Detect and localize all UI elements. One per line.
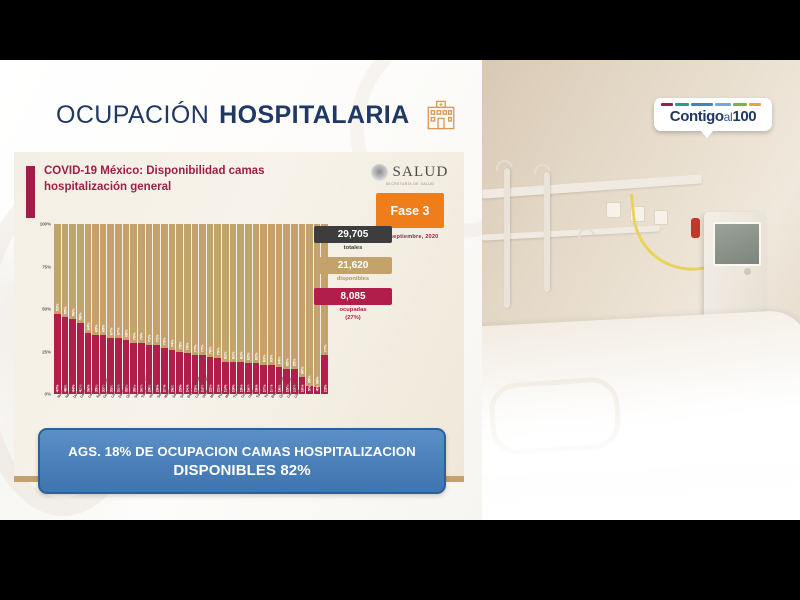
table-row[interactable]: 65%35% <box>100 224 107 394</box>
table-row[interactable]: 81%19% <box>222 224 229 394</box>
bar-value-label: 58% <box>78 312 83 319</box>
y-tick-label: 50% <box>42 307 51 312</box>
bar-value-label: 74% <box>169 340 174 347</box>
bar-segment-ocupacion: 42% <box>77 323 84 394</box>
logo-dash <box>715 103 731 106</box>
bar-segment-disponibilidad: 71% <box>153 224 160 345</box>
bar-value-label: 56% <box>70 309 75 316</box>
table-row[interactable]: 95%5% <box>306 224 313 394</box>
bar-value-label: 95% <box>307 375 312 382</box>
y-tick-label: 100% <box>40 222 51 227</box>
table-row[interactable]: 75%25% <box>176 224 183 394</box>
table-row[interactable]: 64%36% <box>85 224 92 394</box>
table-row[interactable]: 79%21% <box>214 224 221 394</box>
status-badge: 21,620disponibles <box>314 257 392 283</box>
table-row[interactable]: 58%42% <box>77 224 84 394</box>
bar-value-label: 70% <box>131 333 136 340</box>
table-row[interactable]: 67%33% <box>107 224 114 394</box>
plot-area: 53%47%55%46%56%44%58%42%64%36%65%35%65%3… <box>54 224 330 394</box>
x-tick-label: Quintana Roo <box>276 395 283 425</box>
table-row[interactable]: 55%46% <box>62 224 69 394</box>
logo-wordmark: Contigo al 100 <box>661 108 765 125</box>
x-tick-label: Veracruz <box>199 395 206 425</box>
banner-line-two: DISPONIBLES 82% <box>173 462 310 479</box>
video-frame: OCUPACIÓN HOSPITALARIA <box>0 60 800 520</box>
logo-word-al: al <box>724 110 733 124</box>
callout-value: 8,085 <box>314 288 392 305</box>
bar-value-label: 70% <box>139 333 144 340</box>
bar-segment-disponibilidad: 56% <box>69 224 76 319</box>
bar-segment-disponibilidad: 84% <box>276 224 283 367</box>
x-tick-label <box>299 395 306 425</box>
y-tick-label: 25% <box>42 349 51 354</box>
fase-label: Fase 3 <box>391 204 430 218</box>
bar-segment-disponibilidad: 73% <box>161 224 168 348</box>
status-badge: 29,705totales <box>314 226 392 252</box>
logo-bubble: Contigo al 100 <box>654 98 772 131</box>
x-tick-label: Chiapas <box>291 395 298 425</box>
x-tick-label: Tabasco <box>253 395 260 425</box>
bar-segment-disponibilidad: 81% <box>222 224 229 362</box>
bar-value-label: 77% <box>322 345 327 352</box>
callout-label: totales <box>314 245 392 252</box>
bar-value-label: 78% <box>208 346 213 353</box>
bar-value-label: 83% <box>269 355 274 362</box>
table-row[interactable]: 82%18% <box>245 224 252 394</box>
bar-value-label: 81% <box>238 351 243 358</box>
x-tick-label: Baja California Sur <box>268 395 275 425</box>
x-tick-label: Guanajuato <box>100 395 107 425</box>
bar-value-label: 82% <box>246 353 251 360</box>
bar-segment-disponibilidad: 78% <box>207 224 214 357</box>
bar-value-label: 83% <box>261 355 266 362</box>
bar-value-label: 71% <box>154 334 159 341</box>
status-badge: 8,085ocupadas(27%) <box>314 288 392 321</box>
x-tick-label: Jalisco <box>169 395 176 425</box>
table-row[interactable]: 84%16% <box>276 224 283 394</box>
x-tick-label: Sonora <box>153 395 160 425</box>
wall-outlet-one <box>606 202 621 218</box>
logo-word-100: 100 <box>732 108 756 125</box>
bar-segment-disponibilidad: 85% <box>283 224 290 369</box>
bar-segment-ocupacion: 36% <box>85 333 92 394</box>
stacked-bar-chart: 0%25%50%75%100% 53%47%55%46%56%44%58%42%… <box>30 224 330 436</box>
bar-segment-disponibilidad: 64% <box>85 224 92 333</box>
x-tick-label: Ciudad de México <box>192 395 199 425</box>
x-tick-label: Sinaloa <box>176 395 183 425</box>
photo-fade-overlay <box>482 370 800 520</box>
bar-value-label: 85% <box>292 358 297 365</box>
x-tick-label: Yucatán <box>260 395 267 425</box>
bar-value-label: 73% <box>162 338 167 345</box>
bar-segment-ocupacion: 47% <box>54 314 61 394</box>
table-row[interactable]: 67%33% <box>115 224 122 394</box>
table-row[interactable]: 68%32% <box>123 224 130 394</box>
x-tick-label: Morelos <box>207 395 214 425</box>
bar-value-label: 65% <box>101 324 106 331</box>
table-row[interactable]: 53%47% <box>54 224 61 394</box>
bar-value-label: 64% <box>85 323 90 330</box>
card-accent-bar <box>26 166 35 218</box>
logo-bubble-tail <box>700 130 714 138</box>
y-tick-label: 75% <box>42 264 51 269</box>
ventilator-screen <box>713 222 761 266</box>
emergency-valve <box>691 218 700 238</box>
bar-value-label: 67% <box>116 328 121 335</box>
bar-segment-disponibilidad: 70% <box>130 224 137 343</box>
bar-segment-disponibilidad: 71% <box>146 224 153 345</box>
table-row[interactable]: 77%23% <box>192 224 199 394</box>
logo-word-contigo: Contigo <box>670 108 724 125</box>
logo-dash <box>661 103 673 106</box>
presentation-slide: OCUPACIÓN HOSPITALARIA <box>0 60 482 520</box>
bar-segment-disponibilidad: 67% <box>107 224 114 338</box>
salud-subtitle: SECRETARÍA DE SALUD <box>366 182 454 186</box>
x-tick-label: Campeche <box>283 395 290 425</box>
bar-value-label: 65% <box>93 324 98 331</box>
x-tick-label: San Luis Potosí <box>130 395 137 425</box>
bar-value-label: 77% <box>192 345 197 352</box>
iv-pole-right <box>544 172 550 292</box>
bar-segment-disponibilidad: 85% <box>291 224 298 369</box>
bar-value-label: 76% <box>185 343 190 350</box>
title-part-one: OCUPACIÓN <box>56 101 209 130</box>
callout-group: 29,705totales21,620disponibles8,085ocupa… <box>314 226 392 327</box>
page-title: OCUPACIÓN HOSPITALARIA <box>56 98 458 132</box>
bar-segment-disponibilidad: 68% <box>123 224 130 340</box>
bar-value-label: 55% <box>62 306 67 313</box>
fase-badge: Fase 3 <box>376 193 444 228</box>
mexico-eagle-seal-icon <box>371 164 388 181</box>
bar-value-label: 90% <box>299 367 304 374</box>
x-tick-label: Durango <box>69 395 76 425</box>
hospital-building-icon <box>424 98 458 132</box>
video-stage: OCUPACIÓN HOSPITALARIA <box>0 0 800 600</box>
table-row[interactable]: 83%17% <box>268 224 275 394</box>
x-tick-label: Hidalgo <box>146 395 153 425</box>
logo-dash <box>675 103 689 106</box>
table-row[interactable]: 76%24% <box>184 224 191 394</box>
table-row[interactable]: 77%23% <box>199 224 206 394</box>
x-tick-label: Baja California <box>184 395 191 425</box>
bar-segment-disponibilidad: 77% <box>199 224 206 355</box>
table-row[interactable]: 74%26% <box>169 224 176 394</box>
title-part-two: HOSPITALARIA <box>219 101 409 130</box>
x-tick-label: Michoacán <box>161 395 168 425</box>
table-row[interactable]: 65%35% <box>92 224 99 394</box>
bar-segment-disponibilidad: 81% <box>237 224 244 362</box>
y-axis: 0%25%50%75%100% <box>30 224 54 394</box>
table-row[interactable]: 81%19% <box>237 224 244 394</box>
x-axis-labels: Nuevo LeónNayaritDurangoColimaCoahuilaAg… <box>54 395 328 425</box>
bar-segment-disponibilidad: 58% <box>77 224 84 323</box>
x-tick-label: Oaxaca <box>245 395 252 425</box>
callout-label: disponibles <box>314 276 392 283</box>
table-row[interactable]: 83%17% <box>260 224 267 394</box>
bar-value-label: 5% <box>307 386 312 391</box>
bar-segment-disponibilidad: 82% <box>245 224 252 363</box>
table-row[interactable]: 85%15% <box>291 224 298 394</box>
callout-value: 29,705 <box>314 226 392 243</box>
x-tick-label: Querétaro <box>123 395 130 425</box>
bar-value-label: 67% <box>108 328 113 335</box>
x-tick-label <box>306 395 313 425</box>
bar-segment-ocupacion: 44% <box>69 319 76 394</box>
x-tick-label: Nuevo León <box>54 395 61 425</box>
bar-segment-disponibilidad: 90% <box>299 224 306 377</box>
bar-segment-disponibilidad: 75% <box>176 224 183 352</box>
x-tick-label <box>314 395 321 425</box>
table-row[interactable]: 78%22% <box>207 224 214 394</box>
bar-value-label: 84% <box>276 357 281 364</box>
x-tick-label: Chihuahua <box>107 395 114 425</box>
ventilator-knob <box>744 268 751 275</box>
bar-value-label: 68% <box>124 329 129 336</box>
bar-value-label: 23% <box>322 385 327 392</box>
bar-segment-ocupacion: 5% <box>306 386 313 395</box>
bar-value-label: 79% <box>215 348 220 355</box>
table-row[interactable]: 70%30% <box>138 224 145 394</box>
bottom-banner: AGS. 18% DE OCUPACION CAMAS HOSPITALIZAC… <box>38 428 446 494</box>
bar-segment-disponibilidad: 65% <box>92 224 99 335</box>
bar-segment-disponibilidad: 65% <box>100 224 107 335</box>
bar-segment-disponibilidad: 79% <box>214 224 221 358</box>
table-row[interactable]: 90%10% <box>299 224 306 394</box>
contigo-al-100-logo: Contigo al 100 <box>654 98 772 131</box>
bar-value-label: 4% <box>315 386 320 391</box>
bar-segment-disponibilidad: 76% <box>184 224 191 353</box>
bar-segment-disponibilidad: 83% <box>260 224 267 365</box>
salud-wordmark: SALUD <box>392 164 448 181</box>
x-tick-label: Nayarit <box>62 395 69 425</box>
logo-dashes <box>661 103 765 106</box>
table-row[interactable]: 70%30% <box>130 224 137 394</box>
bar-value-label: 53% <box>55 304 60 311</box>
hospital-room-photo: Contigo al 100 <box>482 60 800 520</box>
y-tick-label: 0% <box>45 392 51 397</box>
x-tick-label: Puebla <box>214 395 221 425</box>
bar-series-container: 53%47%55%46%56%44%58%42%64%36%65%35%65%3… <box>54 224 328 394</box>
bar-segment-disponibilidad: 53% <box>54 224 61 314</box>
bar-segment-ocupacion: 23% <box>321 355 328 394</box>
bar-value-label: 81% <box>223 351 228 358</box>
bar-segment-ocupacion: 4% <box>314 387 321 394</box>
bar-segment-disponibilidad: 74% <box>169 224 176 350</box>
iv-pole-left <box>504 168 510 308</box>
logo-dash <box>749 103 761 106</box>
callout-label: ocupadas(27%) <box>314 307 392 321</box>
table-row[interactable]: 82%18% <box>253 224 260 394</box>
bar-segment-disponibilidad: 67% <box>115 224 122 338</box>
bar-segment-disponibilidad: 83% <box>268 224 275 365</box>
bar-segment-disponibilidad: 82% <box>253 224 260 363</box>
x-tick-label <box>321 395 328 425</box>
table-row[interactable]: 81%19% <box>230 224 237 394</box>
bar-value-label: 77% <box>200 345 205 352</box>
bar-value-label: 82% <box>253 353 258 360</box>
table-row[interactable]: 56%44% <box>69 224 76 394</box>
bar-value-label: 81% <box>231 351 236 358</box>
chart-title: COVID-19 México: Disponibilidad camas ho… <box>44 164 334 195</box>
bar-segment-disponibilidad: 77% <box>192 224 199 355</box>
table-row[interactable]: 71%29% <box>153 224 160 394</box>
bar-segment-disponibilidad: 55% <box>62 224 69 317</box>
table-row[interactable]: 73%27% <box>161 224 168 394</box>
x-tick-label: Aguascalientes <box>92 395 99 425</box>
bar-segment-disponibilidad: 70% <box>138 224 145 343</box>
x-tick-label: Colima <box>77 395 84 425</box>
x-tick-label: Zacatecas <box>115 395 122 425</box>
bar-value-label: 75% <box>177 341 182 348</box>
bar-value-label: 85% <box>284 358 289 365</box>
x-tick-label: Guerrero <box>237 395 244 425</box>
x-tick-label: Tamaulipas <box>138 395 145 425</box>
table-row[interactable]: 85%15% <box>283 224 290 394</box>
bar-segment-disponibilidad: 95% <box>306 224 313 386</box>
bar-value-label: 71% <box>147 334 152 341</box>
x-tick-label: México <box>222 395 229 425</box>
x-tick-label: Tlaxcala <box>230 395 237 425</box>
logo-dash <box>733 103 747 106</box>
x-tick-label: Coahuila <box>85 395 92 425</box>
bar-segment-disponibilidad: 81% <box>230 224 237 362</box>
bar-value-label: 96% <box>315 377 320 384</box>
table-row[interactable]: 71%29% <box>146 224 153 394</box>
callout-value: 21,620 <box>314 257 392 274</box>
banner-line-one: AGS. 18% DE OCUPACION CAMAS HOSPITALIZAC… <box>68 444 415 459</box>
logo-dash <box>691 103 713 106</box>
